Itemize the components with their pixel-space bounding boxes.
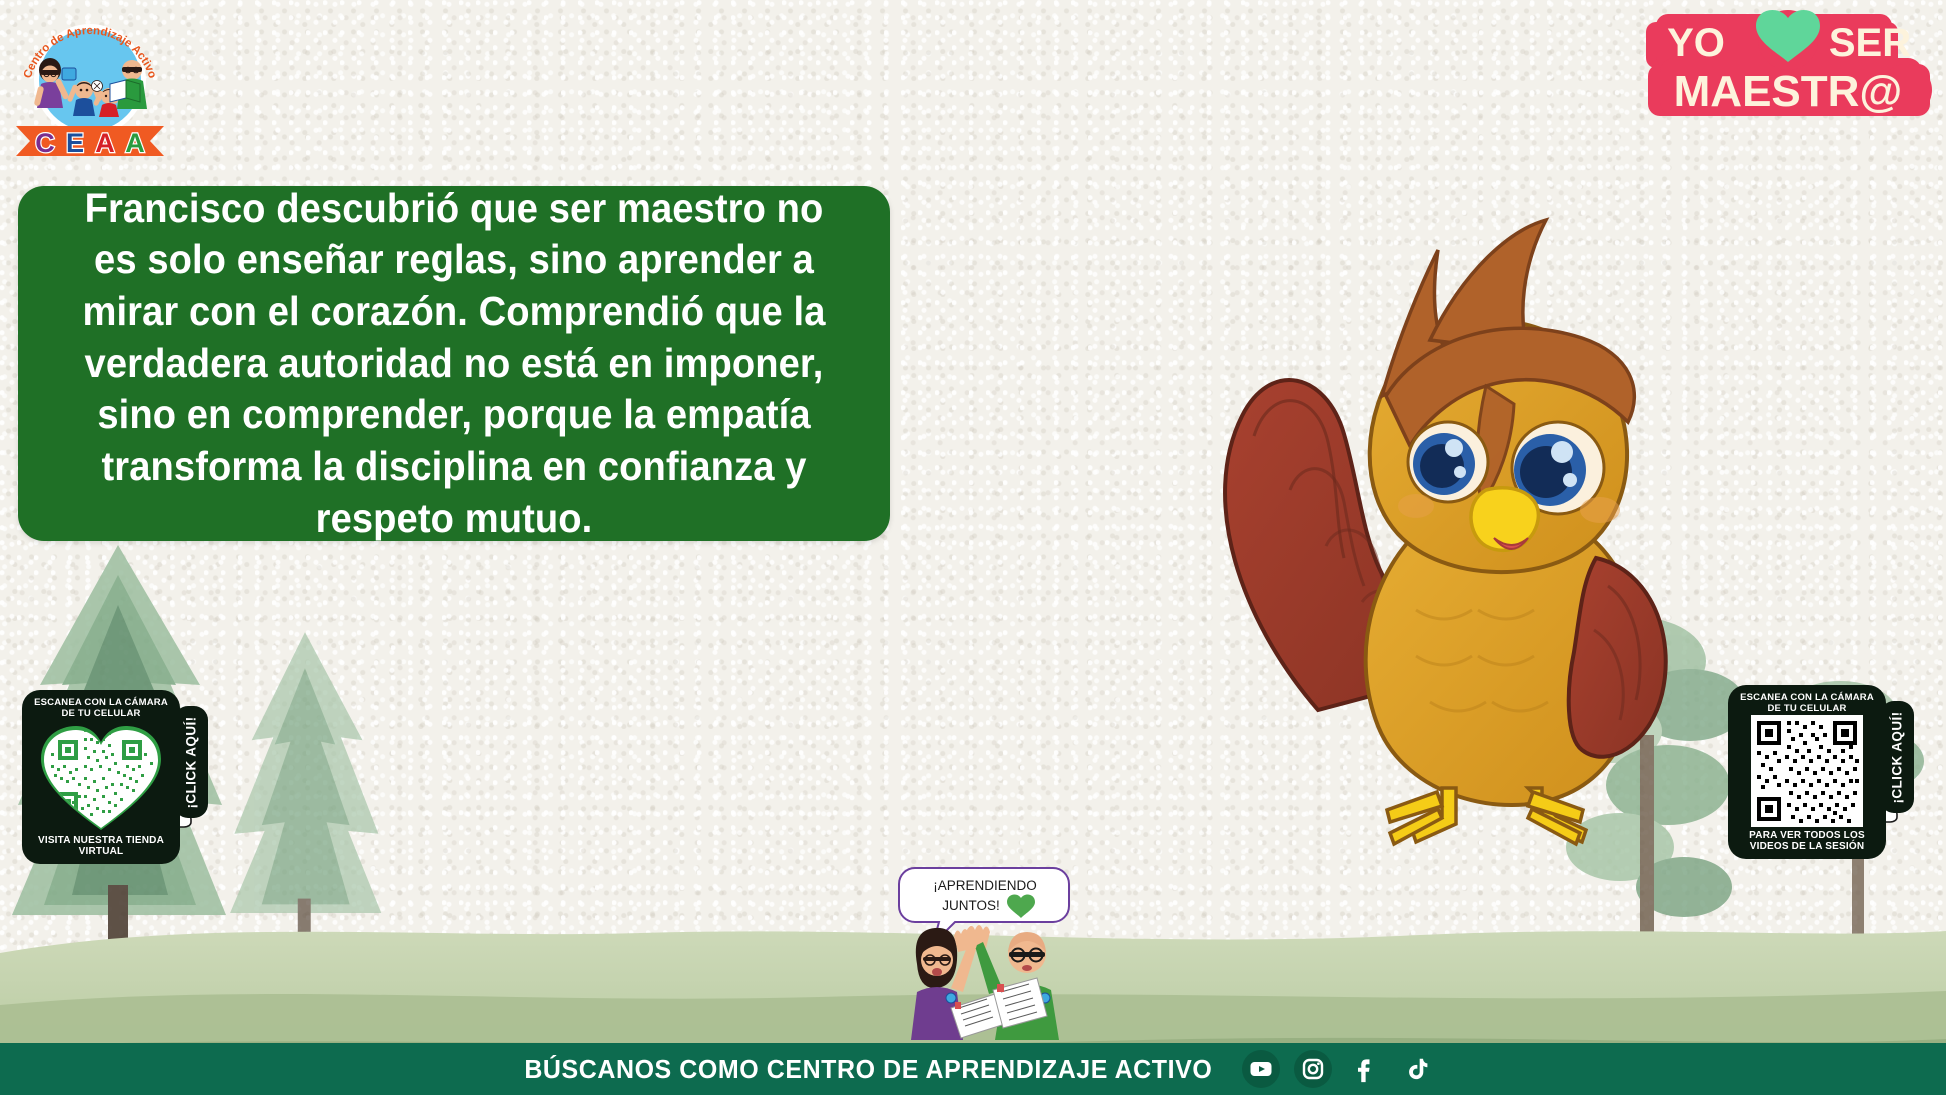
svg-text:E: E: [66, 128, 84, 158]
qr-right-click-label: ¡CLICK AQUÍ!: [1890, 711, 1905, 803]
owl-beak: [1471, 488, 1538, 551]
qr-right-caption-top: ESCANEA CON LA CÁMARA DE TU CELULAR: [1734, 693, 1880, 714]
yo-amo-ser-maestro-badge[interactable]: YO SER MAESTR@: [1638, 6, 1938, 126]
owl-mascot: [1130, 190, 1770, 850]
svg-text:C: C: [35, 128, 55, 158]
ceaa-logo[interactable]: Centro de Aprendizaje Activo: [10, 8, 170, 158]
social-links: [1242, 1050, 1436, 1088]
qr-left-code[interactable]: [38, 720, 164, 832]
qr-left-click-label: ¡CLICK AQUÍ!: [184, 716, 199, 808]
owl-eye-left: [1408, 422, 1488, 502]
slide-canvas: Centro de Aprendizaje Activo: [0, 0, 1946, 1095]
speech-line-1: ¡APRENDIENDO: [933, 878, 1037, 893]
svg-text:A: A: [95, 128, 115, 158]
tiktok-icon[interactable]: [1398, 1050, 1436, 1088]
qr-left-caption-bottom: VISITA NUESTRA TIENDA VIRTUAL: [28, 835, 174, 857]
badge-ser-text: SER: [1829, 21, 1911, 65]
facebook-icon[interactable]: [1346, 1050, 1384, 1088]
teachers-illustration: ¡APRENDIENDO JUNTOS!: [893, 862, 1113, 1040]
quote-card: Francisco descubrió que ser maestro no e…: [18, 186, 890, 541]
quote-text: Francisco descubrió que ser maestro no e…: [49, 183, 860, 545]
speech-line-2: JUNTOS!: [942, 898, 1000, 913]
svg-text:A: A: [125, 128, 145, 158]
qr-right-caption-bottom: PARA VER TODOS LOS VIDEOS DE LA SESIÓN: [1734, 830, 1880, 852]
badge-maestro-text: MAESTR@: [1674, 67, 1903, 116]
qr-right-box[interactable]: ESCANEA CON LA CÁMARA DE TU CELULAR: [1728, 685, 1886, 859]
youtube-icon[interactable]: [1242, 1050, 1280, 1088]
qr-left-box[interactable]: ESCANEA CON LA CÁMARA DE TU CELULAR: [22, 690, 180, 864]
footer-bar: BÚSCANOS COMO CENTRO DE APRENDIZAJE ACTI…: [0, 1043, 1946, 1095]
instagram-icon[interactable]: [1294, 1050, 1332, 1088]
qr-left-caption-top: ESCANEA CON LA CÁMARA DE TU CELULAR: [28, 698, 174, 719]
footer-text: BÚSCANOS COMO CENTRO DE APRENDIZAJE ACTI…: [524, 1054, 1212, 1085]
badge-yo-text: YO: [1667, 21, 1725, 65]
qr-right-code[interactable]: [1748, 715, 1866, 827]
qr-tienda-virtual[interactable]: ESCANEA CON LA CÁMARA DE TU CELULAR: [22, 690, 208, 864]
qr-videos-sesion[interactable]: ESCANEA CON LA CÁMARA DE TU CELULAR: [1728, 685, 1914, 859]
